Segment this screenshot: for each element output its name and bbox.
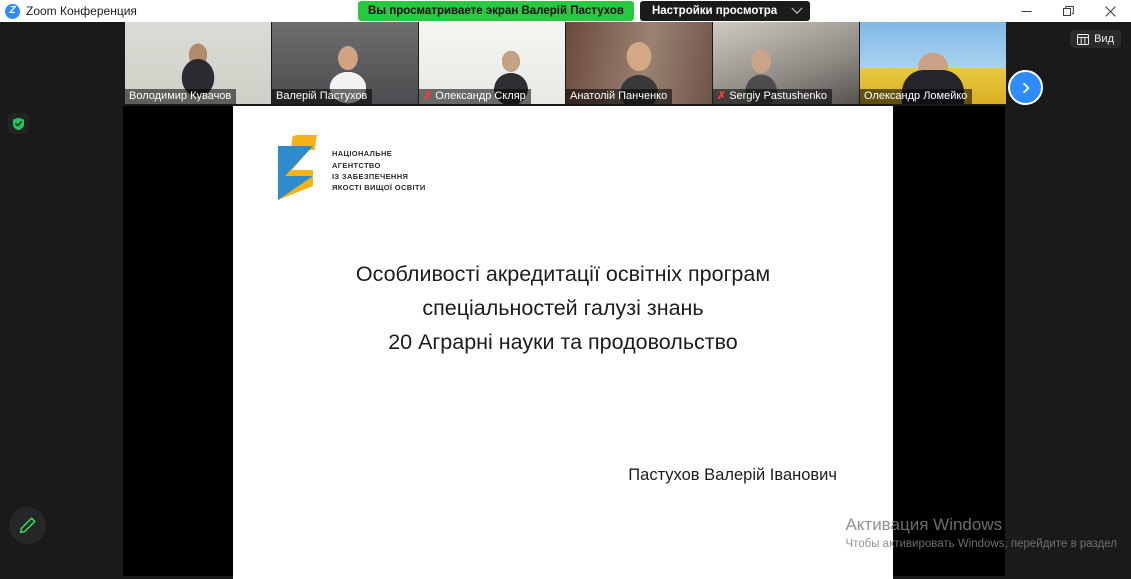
close-button[interactable] — [1089, 0, 1131, 22]
participant-name: Sergiy Pastushenko — [729, 90, 827, 102]
participant-name-badge: Анатолій Панченко — [566, 89, 672, 104]
view-options-label: Настройки просмотра — [652, 5, 777, 17]
shared-screen-area[interactable]: НАЦІОНАЛЬНЕ АГЕНТСТВО ІЗ ЗАБЕЗПЕЧЕННЯ ЯК… — [123, 106, 1005, 576]
chevron-right-icon — [1020, 82, 1032, 94]
minimize-button[interactable] — [1005, 0, 1047, 22]
agency-logo-text: НАЦІОНАЛЬНЕ АГЕНТСТВО ІЗ ЗАБЕЗПЕЧЕННЯ ЯК… — [332, 148, 426, 194]
participant-thumbnail[interactable]: ✗ Олександр Скляр — [419, 22, 565, 104]
participant-filmstrip[interactable]: Володимир Кувачов Валерій Пастухов ✗ Оле… — [125, 22, 1000, 104]
slide-author: Пастухов Валерій Іванович — [628, 466, 837, 485]
participant-name: Олександр Ломейко — [864, 90, 967, 102]
grid-icon — [1077, 34, 1089, 45]
mute-icon: ✗ — [423, 91, 432, 102]
filmstrip-next-page-button[interactable] — [1008, 70, 1043, 105]
security-shield-button[interactable] — [8, 113, 29, 134]
presentation-slide: НАЦІОНАЛЬНЕ АГЕНТСТВО ІЗ ЗАБЕЗПЕЧЕННЯ ЯК… — [233, 106, 893, 579]
nazyavo-logo: НАЦІОНАЛЬНЕ АГЕНТСТВО ІЗ ЗАБЕЗПЕЧЕННЯ ЯК… — [273, 134, 426, 208]
participant-name: Анатолій Панченко — [570, 90, 667, 102]
participant-name-badge: Валерій Пастухов — [272, 89, 372, 104]
participant-name: Олександр Скляр — [435, 90, 526, 102]
participant-thumbnail[interactable]: Анатолій Панченко — [566, 22, 712, 104]
mute-icon: ✗ — [717, 91, 726, 102]
slide-title-line-2: спеціальностей галузі знань — [259, 292, 867, 326]
view-toggle-label: Вид — [1094, 33, 1114, 45]
participant-name-badge: ✗ Sergiy Pastushenko — [713, 89, 832, 104]
annotate-button[interactable] — [9, 507, 46, 544]
view-toggle-button[interactable]: Вид — [1070, 30, 1121, 48]
screen-share-banner: Вы просматриваете экран Валерій Пастухов — [358, 1, 634, 21]
pencil-icon — [18, 516, 37, 535]
maximize-restore-button[interactable] — [1047, 0, 1089, 22]
agency-logo-mark — [273, 134, 321, 208]
left-tool-rail — [0, 22, 56, 558]
app-identity: Z Zoom Конференция — [0, 4, 137, 19]
slide-title-line-1: Особливості акредитації освітніх програм — [259, 258, 867, 292]
zoom-logo-icon: Z — [5, 4, 20, 19]
participant-name: Володимир Кувачов — [129, 90, 231, 102]
chevron-down-icon — [792, 3, 803, 14]
view-options-button[interactable]: Настройки просмотра — [640, 1, 810, 21]
meeting-stage: Володимир Кувачов Валерій Пастухов ✗ Оле… — [0, 22, 1131, 558]
participant-thumbnail-active-speaker[interactable]: Олександр Ломейко — [860, 22, 1006, 104]
participant-thumbnail[interactable]: ✗ Sergiy Pastushenko — [713, 22, 859, 104]
participant-name-badge: ✗ Олександр Скляр — [419, 89, 531, 104]
participant-name-badge: Володимир Кувачов — [125, 89, 236, 104]
window-controls — [1005, 0, 1131, 22]
app-title: Zoom Конференция — [26, 4, 137, 18]
participant-name: Валерій Пастухов — [276, 90, 367, 102]
participant-thumbnail[interactable]: Володимир Кувачов — [125, 22, 271, 104]
screen-share-status-group: Вы просматриваете экран Валерій Пастухов… — [358, 1, 810, 21]
slide-title: Особливості акредитації освітніх програм… — [233, 258, 893, 359]
participant-name-badge: Олександр Ломейко — [860, 89, 972, 104]
participant-thumbnail[interactable]: Валерій Пастухов — [272, 22, 418, 104]
window-titlebar: Z Zoom Конференция Вы просматриваете экр… — [0, 0, 1131, 22]
slide-title-line-3: 20 Аграрні науки та продовольство — [259, 326, 867, 360]
shield-check-icon — [12, 117, 25, 131]
